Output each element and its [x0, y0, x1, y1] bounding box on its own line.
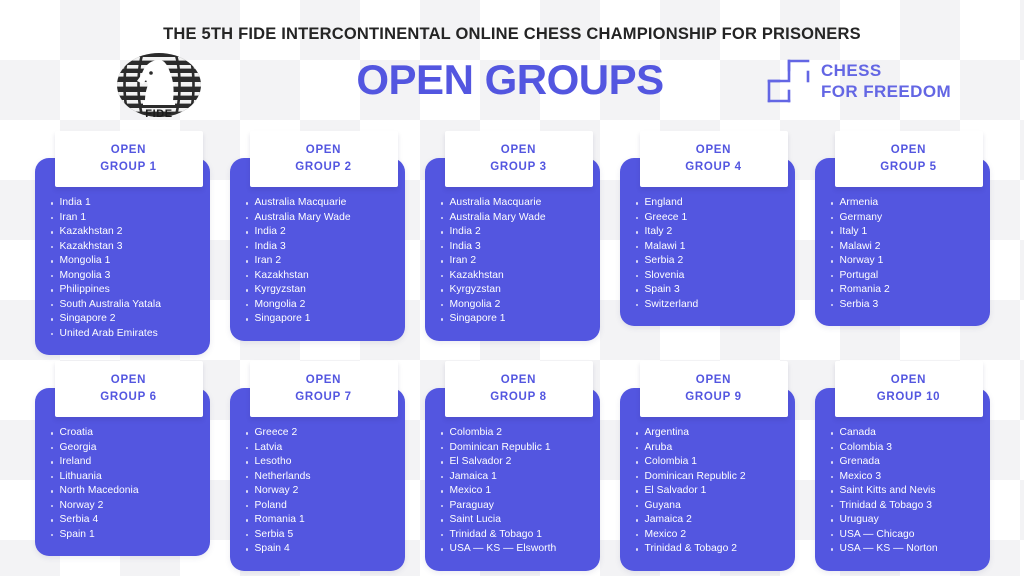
- list-item: Argentina: [634, 426, 787, 441]
- list-item: El Salvador 1: [634, 484, 787, 499]
- list-item: Colombia 1: [634, 455, 787, 470]
- list-item: Jamaica 2: [634, 513, 787, 528]
- list-item: USA — Chicago: [829, 528, 982, 543]
- list-item: Lithuania: [49, 470, 202, 485]
- list-item: Ireland: [49, 455, 202, 470]
- group-tab-line-1: OPEN: [59, 142, 199, 159]
- group-tab-line-2: GROUP 9: [644, 389, 784, 406]
- list-item: Trinidad & Tobago 3: [829, 499, 982, 514]
- list-item: Mexico 2: [634, 528, 787, 543]
- list-item: Armenia: [829, 196, 982, 211]
- group-team-list-3: Australia MacquarieAustralia Mary WadeIn…: [439, 196, 592, 327]
- group-tab-line-2: GROUP 5: [839, 159, 979, 176]
- group-tab-line-1: OPEN: [449, 372, 589, 389]
- list-item: Iran 2: [439, 254, 592, 269]
- list-item: Spain 4: [244, 542, 397, 557]
- list-item: India 2: [244, 225, 397, 240]
- list-item: Mexico 1: [439, 484, 592, 499]
- group-card-tab-9: OPENGROUP 9: [640, 361, 788, 417]
- group-tab-line-1: OPEN: [839, 142, 979, 159]
- list-item: Kazakhstan 3: [49, 240, 202, 255]
- list-item: India 3: [439, 240, 592, 255]
- list-item: USA — KS — Norton: [829, 542, 982, 557]
- list-item: Trinidad & Tobago 2: [634, 542, 787, 557]
- list-item: Colombia 2: [439, 426, 592, 441]
- group-team-list-9: ArgentinaArubaColombia 1Dominican Republ…: [634, 426, 787, 557]
- group-tab-line-2: GROUP 1: [59, 159, 199, 176]
- list-item: Kazakhstan: [244, 269, 397, 284]
- list-item: Iran 2: [244, 254, 397, 269]
- list-item: Kazakhstan 2: [49, 225, 202, 240]
- group-tab-line-1: OPEN: [644, 142, 784, 159]
- open-groups-grid: India 1Iran 1Kazakhstan 2Kazakhstan 3Mon…: [0, 126, 1024, 576]
- group-tab-line-1: OPEN: [254, 372, 394, 389]
- group-card-body-1: India 1Iran 1Kazakhstan 2Kazakhstan 3Mon…: [35, 158, 210, 355]
- list-item: Spain 1: [49, 528, 202, 543]
- group-tab-line-1: OPEN: [59, 372, 199, 389]
- list-item: Kyrgyzstan: [244, 283, 397, 298]
- group-card-tab-3: OPENGROUP 3: [445, 131, 593, 187]
- list-item: Grenada: [829, 455, 982, 470]
- group-team-list-4: EnglandGreece 1Italy 2Malawi 1Serbia 2Sl…: [634, 196, 787, 312]
- group-card-tab-10: OPENGROUP 10: [835, 361, 983, 417]
- chess-for-freedom-wordmark: CHESS FOR FREEDOM: [821, 60, 951, 103]
- list-item: Germany: [829, 211, 982, 226]
- list-item: Spain 3: [634, 283, 787, 298]
- group-tab-line-1: OPEN: [254, 142, 394, 159]
- list-item: Iran 1: [49, 211, 202, 226]
- list-item: USA — KS — Elsworth: [439, 542, 592, 557]
- group-tab-line-2: GROUP 7: [254, 389, 394, 406]
- group-team-list-5: ArmeniaGermanyItaly 1Malawi 2Norway 1Por…: [829, 196, 982, 312]
- list-item: Uruguay: [829, 513, 982, 528]
- list-item: Mongolia 3: [49, 269, 202, 284]
- list-item: Dominican Republic 1: [439, 441, 592, 456]
- list-item: Saint Kitts and Nevis: [829, 484, 982, 499]
- group-tab-line-1: OPEN: [839, 372, 979, 389]
- group-team-list-2: Australia MacquarieAustralia Mary WadeIn…: [244, 196, 397, 327]
- list-item: Australia Mary Wade: [439, 211, 592, 226]
- list-item: Kyrgyzstan: [439, 283, 592, 298]
- chess-for-freedom-pinwheel-icon: [766, 58, 810, 104]
- group-tab-line-2: GROUP 8: [449, 389, 589, 406]
- list-item: Singapore 1: [244, 312, 397, 327]
- list-item: Singapore 2: [49, 312, 202, 327]
- group-tab-line-1: OPEN: [449, 142, 589, 159]
- list-item: Malawi 2: [829, 240, 982, 255]
- list-item: Dominican Republic 2: [634, 470, 787, 485]
- group-team-list-6: CroatiaGeorgiaIrelandLithuaniaNorth Mace…: [49, 426, 202, 542]
- list-item: England: [634, 196, 787, 211]
- list-item: Portugal: [829, 269, 982, 284]
- list-item: Canada: [829, 426, 982, 441]
- list-item: Serbia 3: [829, 298, 982, 313]
- list-item: Singapore 1: [439, 312, 592, 327]
- group-tab-line-2: GROUP 4: [644, 159, 784, 176]
- list-item: Croatia: [49, 426, 202, 441]
- list-item: Aruba: [634, 441, 787, 456]
- list-item: Georgia: [49, 441, 202, 456]
- list-item: India 3: [244, 240, 397, 255]
- group-card-tab-8: OPENGROUP 8: [445, 361, 593, 417]
- list-item: Greece 2: [244, 426, 397, 441]
- list-item: Malawi 1: [634, 240, 787, 255]
- fide-chess-knight-globe-icon: FIDE: [113, 49, 205, 125]
- list-item: India 1: [49, 196, 202, 211]
- list-item: United Arab Emirates: [49, 327, 202, 342]
- list-item: Mongolia 1: [49, 254, 202, 269]
- list-item: Colombia 3: [829, 441, 982, 456]
- list-item: Norway 2: [244, 484, 397, 499]
- list-item: Mexico 3: [829, 470, 982, 485]
- group-card-tab-1: OPENGROUP 1: [55, 131, 203, 187]
- list-item: Romania 1: [244, 513, 397, 528]
- chess-for-freedom-logo: CHESS FOR FREEDOM: [766, 58, 951, 104]
- list-item: Greece 1: [634, 211, 787, 226]
- cff-line-2: FOR FREEDOM: [821, 81, 951, 102]
- group-card-tab-6: OPENGROUP 6: [55, 361, 203, 417]
- list-item: El Salvador 2: [439, 455, 592, 470]
- list-item: Australia Mary Wade: [244, 211, 397, 226]
- list-item: Italy 2: [634, 225, 787, 240]
- group-team-list-8: Colombia 2Dominican Republic 1El Salvado…: [439, 426, 592, 557]
- list-item: South Australia Yatala: [49, 298, 202, 313]
- group-card-tab-7: OPENGROUP 7: [250, 361, 398, 417]
- list-item: Slovenia: [634, 269, 787, 284]
- list-item: Serbia 4: [49, 513, 202, 528]
- group-tab-line-1: OPEN: [644, 372, 784, 389]
- list-item: Poland: [244, 499, 397, 514]
- list-item: Australia Macquarie: [244, 196, 397, 211]
- group-tab-line-2: GROUP 2: [254, 159, 394, 176]
- list-item: Italy 1: [829, 225, 982, 240]
- cff-line-1: CHESS: [821, 60, 951, 81]
- list-item: Guyana: [634, 499, 787, 514]
- list-item: Trinidad & Tobago 1: [439, 528, 592, 543]
- list-item: Norway 1: [829, 254, 982, 269]
- list-item: Serbia 2: [634, 254, 787, 269]
- page-header: THE 5TH FIDE INTERCONTINENTAL ONLINE CHE…: [0, 0, 1024, 126]
- list-item: Kazakhstan: [439, 269, 592, 284]
- list-item: Switzerland: [634, 298, 787, 313]
- list-item: Jamaica 1: [439, 470, 592, 485]
- list-item: Netherlands: [244, 470, 397, 485]
- group-card-tab-2: OPENGROUP 2: [250, 131, 398, 187]
- group-team-list-7: Greece 2LatviaLesothoNetherlandsNorway 2…: [244, 426, 397, 557]
- svg-text:FIDE: FIDE: [145, 108, 172, 120]
- list-item: Mongolia 2: [439, 298, 592, 313]
- group-card-tab-4: OPENGROUP 4: [640, 131, 788, 187]
- group-tab-line-2: GROUP 3: [449, 159, 589, 176]
- list-item: Australia Macquarie: [439, 196, 592, 211]
- list-item: Latvia: [244, 441, 397, 456]
- list-item: Lesotho: [244, 455, 397, 470]
- list-item: Serbia 5: [244, 528, 397, 543]
- open-groups-heading: OPEN GROUPS: [330, 56, 690, 104]
- list-item: India 2: [439, 225, 592, 240]
- group-team-list-1: India 1Iran 1Kazakhstan 2Kazakhstan 3Mon…: [49, 196, 202, 341]
- list-item: North Macedonia: [49, 484, 202, 499]
- page-title: THE 5TH FIDE INTERCONTINENTAL ONLINE CHE…: [0, 25, 1024, 44]
- group-card-tab-5: OPENGROUP 5: [835, 131, 983, 187]
- group-team-list-10: CanadaColombia 3GrenadaMexico 3Saint Kit…: [829, 426, 982, 557]
- group-tab-line-2: GROUP 10: [839, 389, 979, 406]
- list-item: Saint Lucia: [439, 513, 592, 528]
- list-item: Norway 2: [49, 499, 202, 514]
- list-item: Romania 2: [829, 283, 982, 298]
- fide-logo: FIDE: [113, 49, 205, 125]
- list-item: Philippines: [49, 283, 202, 298]
- group-tab-line-2: GROUP 6: [59, 389, 199, 406]
- list-item: Paraguay: [439, 499, 592, 514]
- list-item: Mongolia 2: [244, 298, 397, 313]
